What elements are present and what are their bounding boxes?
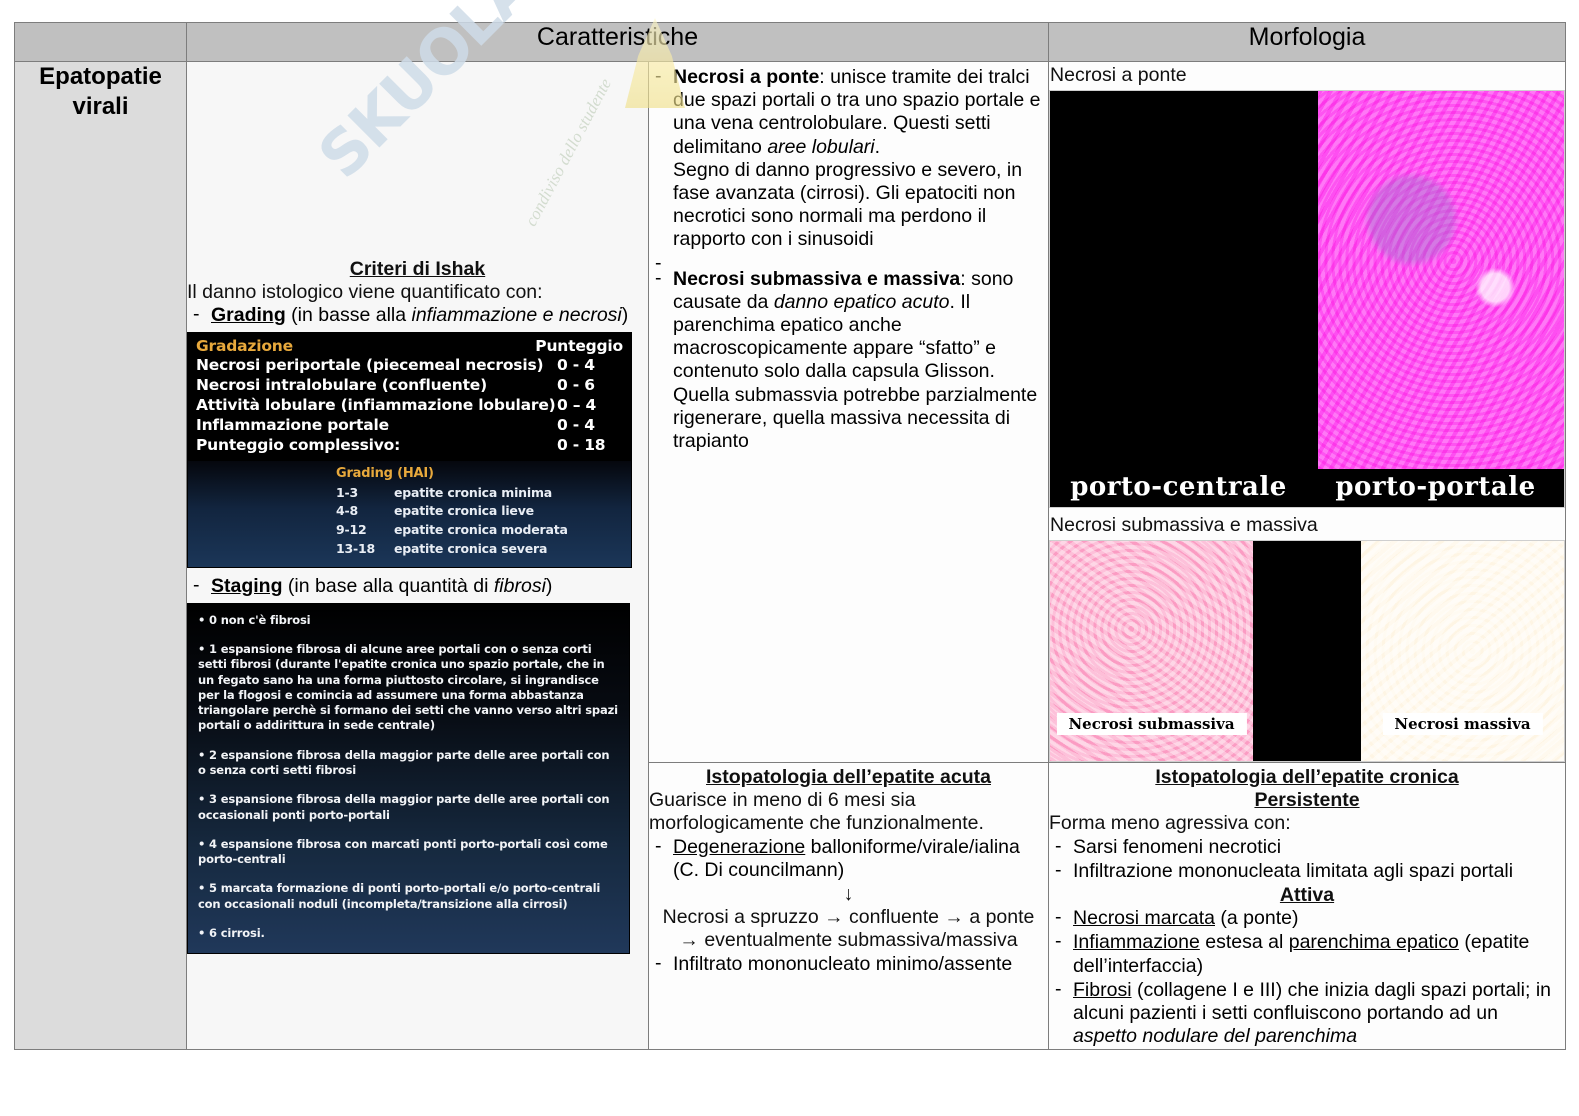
ishak-grading-bullet-list: Grading (in basse alla infiammazione e n… [187,304,648,327]
cell-morfologia-figures: Necrosi a ponte porto-centrale porto-por… [1049,62,1566,763]
table-row: Epatopatievirali Criteri di Ishak Il dan… [15,62,1566,763]
necrosi-note-text-2: . Il parenchima epatico anche macroscopi… [673,291,1037,452]
figure-1-caption-right: porto-portale [1307,472,1564,502]
ishak-hai-desc: epatite cronica moderata [394,521,568,540]
ishak-grading-row-label: Punteggio complessivo: [196,436,400,456]
ishak-grading-row: Inflammazione portale0 - 4 [196,416,623,436]
attiva-item: Infiammazione estesa al parenchima epati… [1049,931,1565,977]
ishak-hai-range: 13-18 [336,540,394,559]
epatite-cronica-subtitle-persistente: Persistente [1049,789,1565,812]
epatite-acuta-chain-1: Necrosi a spruzzo → confluente → a ponte [649,906,1048,929]
attiva-item: Fibrosi (collagene I e III) che inizia d… [1049,979,1565,1049]
necrosi-note-italic: danno epatico acuto [774,291,950,313]
necrosi-note-italic: aree lobulari [767,136,874,158]
necrosi-note-title: Necrosi submassiva e massiva [673,268,960,290]
staging-bullet-italic: fibrosi [494,575,546,597]
epatite-cronica-subtitle-attiva: Attiva [1049,884,1565,907]
attiva-item: Necrosi marcata (a ponte) [1049,907,1565,930]
ishak-grading-row-score: 0 - 18 [557,436,623,456]
attiva-item-keyword: Necrosi marcata [1073,907,1215,929]
attiva-item-text: (collagene I e III) che inizia dagli spa… [1073,979,1551,1024]
ishak-hai-row: 1-3epatite cronica minima [336,484,631,503]
grading-bullet-label: Grading [211,304,286,326]
category-label-line: Epatopatie [15,62,186,92]
cell-epatite-cronica: Istopatologia dell’epatite cronica Persi… [1049,763,1566,1050]
staging-item: • 6 cirrosi. [198,926,619,941]
ishak-hai-desc: epatite cronica minima [394,484,552,503]
ishak-col-punteggio: Punteggio [535,337,623,357]
epatite-acuta-title: Istopatologia dell’epatite acuta [649,766,1048,789]
epatite-acuta-intro: Guarisce in meno di 6 mesi sia morfologi… [649,789,1048,835]
figure-2-label: Necrosi submassiva e massiva [1050,514,1565,537]
ishak-grading-row: Attività lobulare (infiammazione lobular… [196,396,623,416]
row-category-epatopatie-virali: Epatopatievirali [15,62,187,1050]
epatite-cronica-attiva-list: Necrosi marcata (a ponte)Infiammazione e… [1049,907,1565,1048]
figure-1-panel-right [1318,91,1564,469]
ishak-hai-row: 13-18epatite cronica severa [336,540,631,559]
grading-bullet: Grading (in basse alla infiammazione e n… [187,304,648,327]
necrosi-note-spacer [649,253,1048,267]
necrosi-note-title: Necrosi a ponte [673,66,819,88]
ishak-grading-row: Punteggio complessivo:0 - 18 [196,436,623,456]
figure-2-divider [1253,541,1361,761]
grading-bullet-close: ) [622,304,629,326]
attiva-item-keyword: Infiammazione [1073,931,1200,953]
ishak-hai-row: 9-12epatite cronica moderata [336,521,631,540]
persistente-item: Sarsi fenomeni necrotici [1049,836,1565,859]
ishak-grading-row: Necrosi intralobulare (confluente)0 - 6 [196,376,623,396]
figure-2-panels: Necrosi submassiva Necrosi massiva [1050,541,1564,761]
ishak-staging-slide: • 0 non c'è fibrosi• 1 espansione fibros… [187,603,630,955]
ishak-grading-row-label: Necrosi intralobulare (confluente) [196,376,487,396]
grading-bullet-text: (in basse alla [286,304,412,326]
figure-1-panel-left [1050,91,1296,469]
ishak-hai-row: 4-8epatite cronica lieve [336,502,631,521]
figure-1-captions: porto-centrale porto-portale [1050,469,1564,507]
epatite-cronica-persistente-list: Sarsi fenomeni necroticiInfiltrazione mo… [1049,836,1565,883]
staging-bullet: Staging (in base alla quantità di fibros… [187,575,648,598]
staging-bullet-close: ) [546,575,553,597]
ishak-grading-row-label: Attività lobulare (infiammazione lobular… [196,396,556,416]
figure-2-caption-right: Necrosi massiva [1382,713,1542,735]
epatite-acuta-bullets-2: Infiltrato mononucleato minimo/assente [649,953,1048,976]
ishak-title: Criteri di Ishak [187,258,648,281]
attiva-item-keyword-2: parenchima epatico [1289,931,1459,953]
staging-item: • 1 espansione fibrosa di alcune aree po… [198,642,619,734]
ishak-top-spacer [187,62,648,258]
figure-2-image: Necrosi submassiva Necrosi massiva [1049,540,1565,762]
ishak-intro: Il danno istologico viene quantificato c… [187,281,648,304]
staging-item: • 0 non c'è fibrosi [198,613,619,628]
epatite-acuta-arrow: ↓ [649,883,1048,906]
figure-1-panels [1050,91,1564,469]
figure-1-label: Necrosi a ponte [1050,64,1565,87]
ishak-grading-row-score: 0 - 6 [557,376,623,396]
persistente-item: Infiltrazione mononucleata limitata agli… [1049,860,1565,883]
ishak-grading-row-score: 0 - 4 [557,416,623,436]
cell-necrosi-notes: Necrosi a ponte: unisce tramite dei tral… [649,62,1049,763]
table-header-row: Caratteristiche Morfologia [15,23,1566,62]
epatite-acuta-bullet-1: Degenerazione balloniforme/virale/ialina… [649,836,1048,882]
category-label: Epatopatievirali [15,62,186,122]
staging-item: • 2 espansione fibrosa della maggior par… [198,748,619,779]
epatite-acuta-bullets: Degenerazione balloniforme/virale/ialina… [649,836,1048,882]
figure-2-panel-left: Necrosi submassiva [1050,541,1253,761]
ishak-hai-range: 4-8 [336,502,394,521]
ishak-hai-range: 1-3 [336,484,394,503]
category-label-line: virali [15,92,186,122]
grading-bullet-italic: infiammazione e necrosi [412,304,622,326]
staging-item: • 3 espansione fibrosa della maggior par… [198,792,619,823]
ishak-grading-slide: Gradazione Punteggio Necrosi periportale… [187,332,632,568]
ishak-grading-row-score: 0 - 4 [557,356,623,376]
epatite-acuta-chain-2: → eventualmente submassiva/massiva [649,929,1048,952]
figure-1-divider [1296,91,1318,469]
necrosi-note-item: Necrosi submassiva e massiva: sono causa… [649,268,1048,454]
figure-1-image: porto-centrale porto-portale [1049,90,1565,508]
attiva-item-text: estesa al [1200,931,1289,953]
ishak-grading-scores: Gradazione Punteggio Necrosi periportale… [188,333,631,461]
attiva-item-italic: aspetto nodulare del parenchima [1073,1025,1357,1047]
ishak-hai-desc: epatite cronica lieve [394,502,534,521]
cell-criteri-ishak: Criteri di Ishak Il danno istologico vie… [187,62,649,1050]
ishak-grading-row: Necrosi periportale (piecemeal necrosis)… [196,356,623,376]
staging-item: • 4 espansione fibrosa con marcati ponti… [198,837,619,868]
ishak-hai-desc: epatite cronica severa [394,540,547,559]
epatite-acuta-bullet-1-keyword: Degenerazione [673,836,805,858]
header-corner-cell [15,23,187,62]
ishak-hai-rows: 1-3epatite cronica minima4-8epatite cron… [188,484,631,559]
epatite-acuta-bullet-2: Infiltrato mononucleato minimo/assente [649,953,1048,976]
ishak-hai-range: 9-12 [336,521,394,540]
epatite-cronica-title: Istopatologia dell’epatite cronica [1049,766,1565,789]
figure-1-caption-left: porto-centrale [1050,472,1307,502]
attiva-item-keyword: Fibrosi [1073,979,1132,1001]
necrosi-note-item: Necrosi a ponte: unisce tramite dei tral… [649,66,1048,252]
figure-2-caption-left: Necrosi submassiva [1056,713,1246,735]
ishak-grading-row-label: Necrosi periportale (piecemeal necrosis) [196,356,543,376]
attiva-item-text: (a ponte) [1215,907,1298,929]
epatite-cronica-intro: Forma meno agressiva con: [1049,812,1565,835]
ishak-col-gradazione: Gradazione [196,337,293,357]
staging-bullet-label: Staging [211,575,283,597]
staging-item: • 5 marcata formazione di ponti porto-po… [198,881,619,912]
cell-epatite-acuta: Istopatologia dell’epatite acuta Guarisc… [649,763,1049,1050]
staging-bullet-text: (in base alla quantità di [283,575,494,597]
ishak-hai-panel: Grading (HAI) 1-3epatite cronica minima4… [188,461,631,567]
necrosi-notes-list: Necrosi a ponte: unisce tramite dei tral… [649,66,1048,453]
ishak-staging-bullet-list: Staging (in base alla quantità di fibros… [187,575,648,598]
figure-2-panel-right: Necrosi massiva [1361,541,1564,761]
ishak-grading-rows: Necrosi periportale (piecemeal necrosis)… [196,356,623,455]
ishak-grading-header-row: Gradazione Punteggio [196,337,623,357]
header-caratteristiche: Caratteristiche [187,23,1049,62]
notes-table: Caratteristiche Morfologia Epatopatievir… [14,22,1566,1050]
ishak-hai-title: Grading (HAI) [336,466,631,481]
necrosi-note-text-2: . [875,136,880,158]
necrosi-note-paragraph-2: Segno di danno progressivo e severo, in … [673,159,1048,252]
header-morfologia: Morfologia [1049,23,1566,62]
ishak-grading-row-label: Inflammazione portale [196,416,389,436]
ishak-grading-row-score: 0 – 4 [557,396,623,416]
